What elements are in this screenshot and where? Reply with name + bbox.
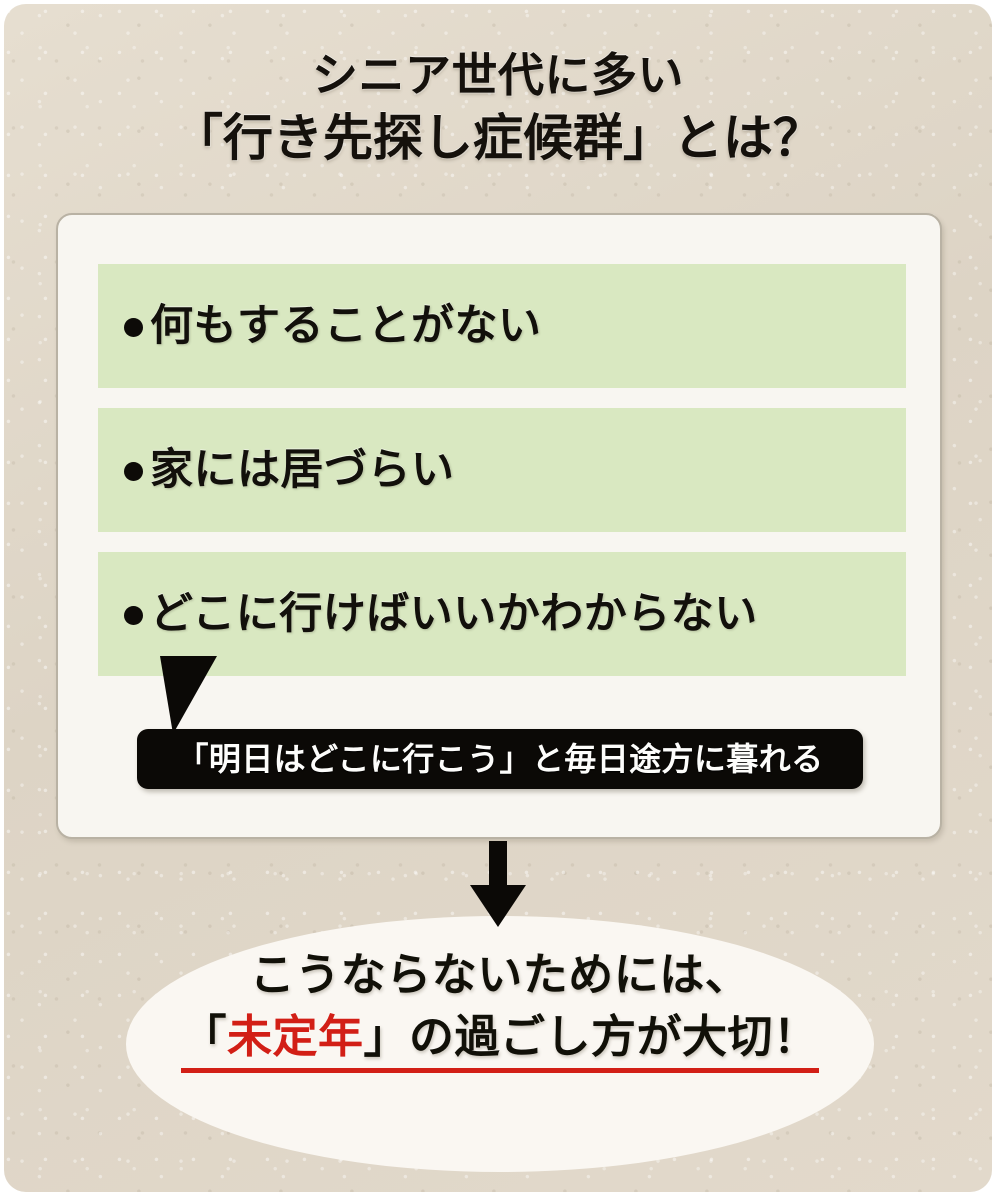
conclusion-line-1: こうならないためには、 <box>126 948 874 1003</box>
open-bracket: 「 <box>181 1010 227 1063</box>
bullet-dot-icon <box>124 606 143 625</box>
conclusion-line-2: 「未定年」の過ごし方が大切！ <box>181 1009 818 1073</box>
conclusion-rest: の過ごし方が大切！ <box>409 1010 819 1063</box>
list-item: 何もすることがない <box>98 264 906 388</box>
bullet-dot-icon <box>124 462 143 481</box>
callout-tail-icon <box>160 656 217 734</box>
symptoms-card: 何もすることがない 家には居づらい どこに行けばいいかわからない 「明日はどこに… <box>56 213 942 839</box>
symptom-text-3: どこに行けばいいかわからない <box>150 593 758 636</box>
bullet-dot-icon <box>124 318 143 337</box>
title-line-2: 「行き先探し症候群」とは？ <box>0 106 996 171</box>
callout-text: 「明日はどこに行こう」と毎日途方に暮れる <box>176 743 823 775</box>
down-arrow-icon <box>468 841 528 929</box>
close-bracket: 」 <box>364 1010 410 1063</box>
symptom-text-2: 家には居づらい <box>150 449 455 492</box>
title-line-1: シニア世代に多い <box>0 46 996 106</box>
conclusion-text: こうならないためには、 「未定年」の過ごし方が大切！ <box>126 948 874 1073</box>
page-title: シニア世代に多い 「行き先探し症候群」とは？ <box>0 46 996 171</box>
infographic-root: シニア世代に多い 「行き先探し症候群」とは？ 何もすることがない 家には居づらい… <box>0 0 996 1200</box>
symptom-text-1: 何もすることがない <box>150 305 542 348</box>
list-item: 家には居づらい <box>98 408 906 532</box>
accent-term: 未定年 <box>227 1010 364 1063</box>
callout-bubble: 「明日はどこに行こう」と毎日途方に暮れる <box>137 729 863 789</box>
list-item: どこに行けばいいかわからない <box>98 552 906 676</box>
